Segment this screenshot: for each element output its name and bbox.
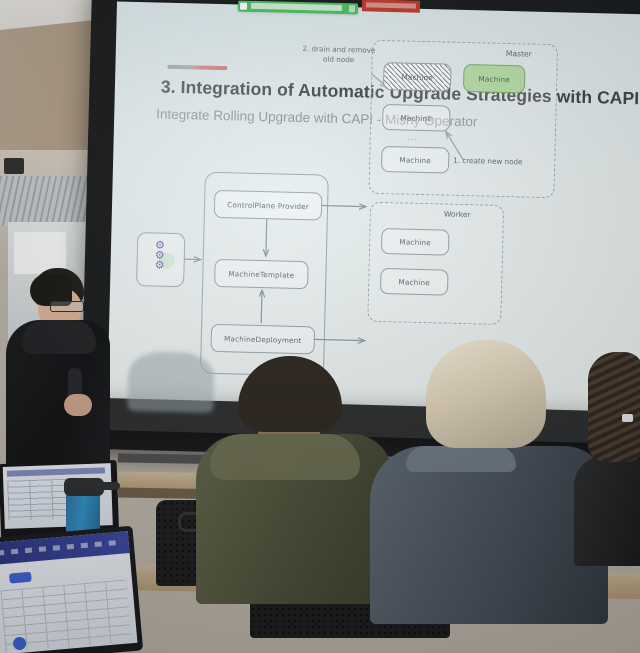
- group-master-label: Master: [506, 49, 532, 59]
- node-label: Machine: [399, 237, 431, 247]
- operator-gears-icon: ⚙⚙⚙: [144, 240, 175, 271]
- annotation-drain: 2. drain and remove old node: [284, 44, 394, 66]
- audience-member-1: [196, 356, 396, 596]
- node-controlplane-provider: ControlPlane Provider: [214, 190, 323, 221]
- machine-box: Machine: [381, 146, 450, 174]
- water-bottle-cap: [64, 478, 104, 496]
- machine-box-draining: Machine: [383, 62, 452, 92]
- presenter-hood: [22, 320, 96, 354]
- node-label: Machine: [401, 72, 433, 82]
- notification-check-icon: [240, 3, 247, 10]
- annotation-create: 1. create new node: [453, 156, 573, 169]
- machine-ellipsis: ...: [408, 133, 418, 142]
- node-label: MachineTemplate: [228, 269, 294, 280]
- node-machine-template: MachineTemplate: [214, 259, 309, 289]
- presenter-hand: [64, 394, 92, 416]
- annotation-line-2: old node: [323, 54, 354, 64]
- audience-1-hood: [210, 434, 360, 480]
- audience-2-hair: [426, 340, 546, 448]
- node-machine-deployment: MachineDeployment: [210, 324, 315, 355]
- machine-box: Machine: [380, 268, 449, 296]
- node-label: Machine: [478, 74, 510, 84]
- node-label: Machine: [400, 113, 432, 123]
- group-master: [368, 40, 558, 198]
- audience-1-hair: [238, 356, 342, 432]
- presentation-photo: 3. Integration of Automatic Upgrade Stra…: [0, 0, 640, 653]
- foreground-laptop[interactable]: [0, 526, 143, 653]
- machine-box: Machine: [382, 104, 451, 132]
- presenter-glasses: [50, 301, 84, 312]
- operator-glow: [159, 253, 175, 269]
- laptop-ui-chip: [9, 572, 32, 584]
- group-worker: [367, 202, 504, 325]
- notification-text: [251, 3, 342, 11]
- node-label: Machine: [399, 155, 431, 165]
- wall-device-icon: [4, 158, 24, 174]
- audience-member-3: [588, 352, 640, 562]
- alert-bar: [362, 0, 420, 13]
- audience-2-shirt: [370, 446, 608, 624]
- audience-3-hairclip: [622, 414, 633, 422]
- audience-2-collar: [406, 446, 516, 472]
- annotation-line-1: 2. drain and remove: [302, 44, 375, 55]
- notification-close-icon[interactable]: [349, 5, 355, 12]
- water-bottle-loop: [100, 482, 120, 490]
- annotation-line-1: 1. create new node: [453, 156, 523, 167]
- audience-3-jacket: [574, 456, 640, 566]
- slide-title: 3. Integration of Automatic Upgrade Stra…: [161, 77, 631, 109]
- node-label: ControlPlane Provider: [227, 200, 309, 211]
- slide-subtitle: Integrate Rolling Upgrade with CAPI - Mi…: [156, 106, 477, 129]
- laptop-screen: [0, 531, 137, 653]
- control-plane-container: [200, 172, 329, 377]
- slide-accent-bar: [167, 65, 227, 70]
- operator-box: [136, 232, 185, 287]
- machine-box-new: Machine: [463, 64, 526, 94]
- group-worker-label: Worker: [444, 210, 471, 220]
- node-label: MachineDeployment: [224, 334, 302, 345]
- audience-3-hair: [588, 352, 640, 462]
- machine-box: Machine: [381, 228, 450, 256]
- node-label: Machine: [398, 277, 430, 287]
